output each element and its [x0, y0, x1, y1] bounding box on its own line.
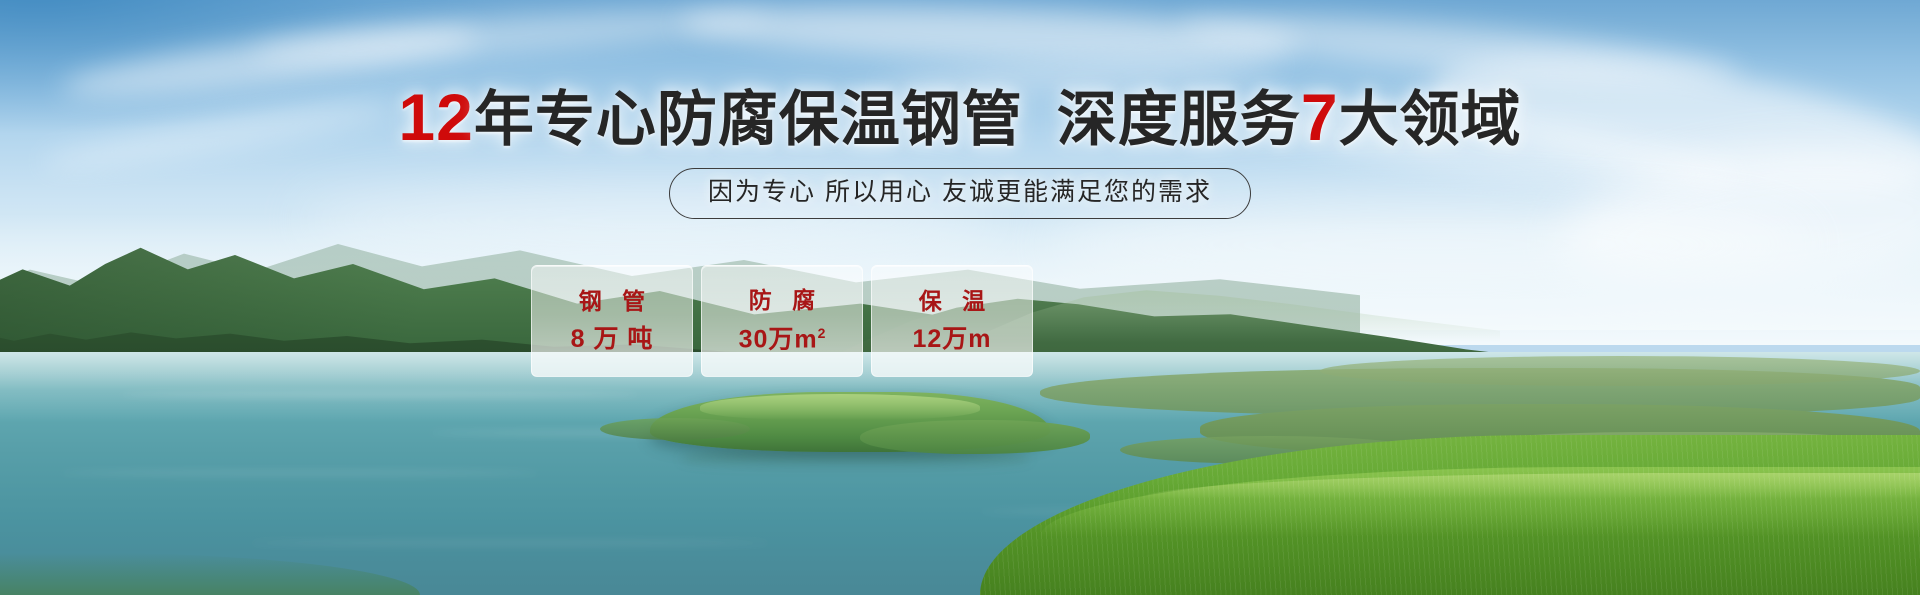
grass-islet	[860, 420, 1090, 454]
water-ripple	[120, 392, 640, 397]
stat-card-value-text: 12万m	[912, 325, 991, 353]
banner-subtitle-wrap: 因为专心 所以用心 友诚更能满足您的需求	[0, 168, 1920, 219]
headline-text-fields: 大领域	[1339, 86, 1522, 153]
stat-card-value-text: 8 万 吨	[571, 325, 654, 353]
water-ripple	[60, 470, 540, 476]
stat-card-anticorrosion[interactable]: 防 腐 30万m2	[701, 265, 863, 377]
stat-card-label: 防 腐	[742, 289, 822, 312]
headline-text-main: 年专心防腐保温钢管	[474, 86, 1023, 153]
stat-card-label: 保 温	[912, 290, 992, 313]
stat-card-steel-pipe[interactable]: 钢 管 8 万 吨	[531, 265, 693, 377]
grass-islet	[600, 418, 750, 440]
islet-highlight	[700, 394, 980, 420]
hero-banner: 12年专心防腐保温钢管深度服务7大领域 因为专心 所以用心 友诚更能满足您的需求…	[0, 0, 1920, 595]
stat-card-label: 钢 管	[572, 290, 652, 313]
stat-card-value: 30万m2	[739, 326, 826, 352]
marsh-far-bank	[1320, 356, 1920, 386]
stat-card-value: 12万m	[912, 327, 991, 352]
stat-card-group: 钢 管 8 万 吨 防 腐 30万m2 保 温 12万m	[531, 265, 1033, 377]
headline-text-service: 深度服务	[1057, 86, 1301, 153]
stat-card-value: 8 万 吨	[571, 327, 654, 352]
headline-years-number: 12	[398, 80, 473, 154]
stat-card-value-text: 30万m	[739, 326, 818, 354]
banner-subtitle-pill: 因为专心 所以用心 友诚更能满足您的需求	[669, 168, 1251, 219]
headline-fields-number: 7	[1301, 80, 1339, 154]
water-ripple	[250, 540, 770, 546]
stat-card-insulation[interactable]: 保 温 12万m	[871, 265, 1033, 377]
stat-card-value-superscript: 2	[818, 325, 826, 341]
banner-headline: 12年专心防腐保温钢管深度服务7大领域	[0, 84, 1920, 150]
